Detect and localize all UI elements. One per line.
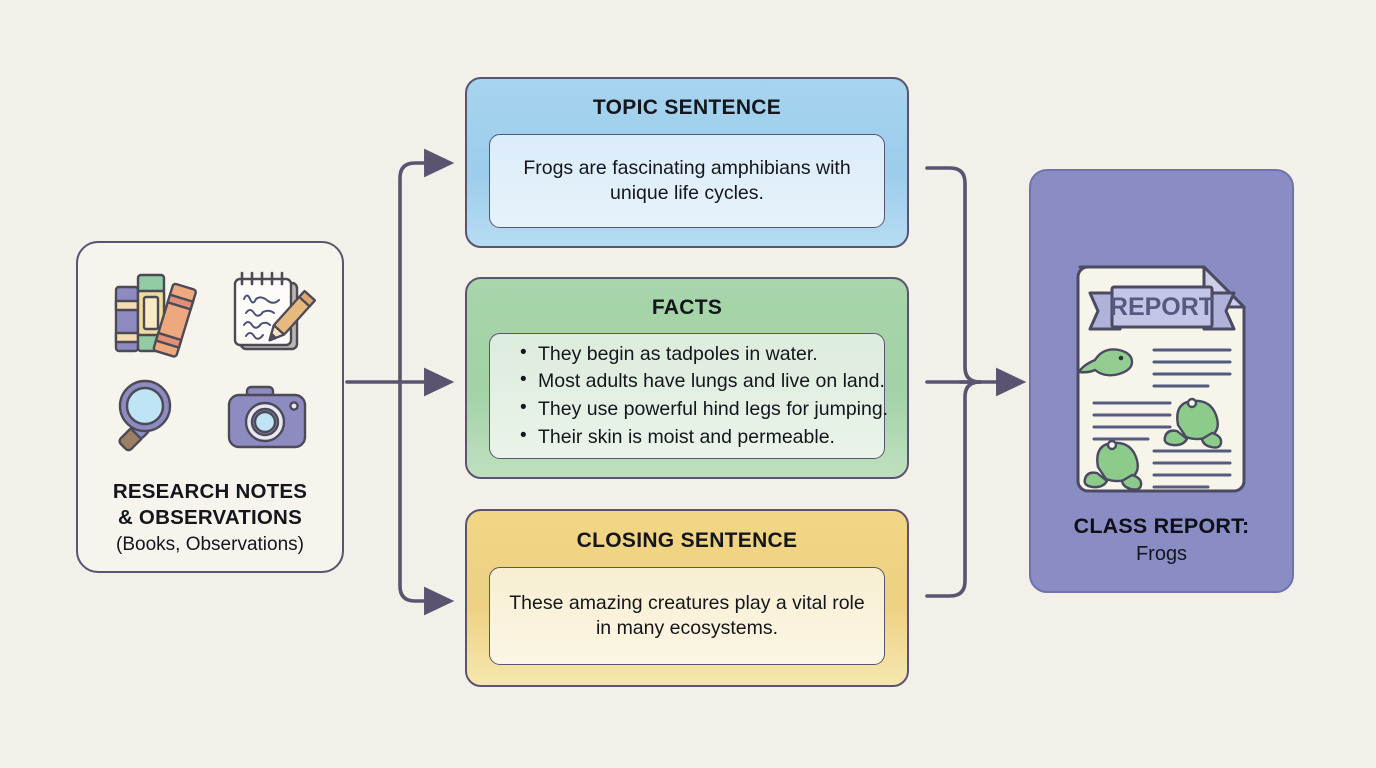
research-notes-node[interactable]: RESEARCH NOTES & OBSERVATIONS (Books, Ob…	[76, 241, 344, 573]
wire-topic-merge	[927, 168, 980, 382]
books-icon	[102, 263, 206, 364]
camera-icon	[215, 367, 319, 468]
class-report-title: CLASS REPORT:	[1031, 513, 1292, 540]
fact-item: Most adults have lungs and live on land.	[520, 368, 888, 396]
topic-sentence-text: Frogs are fascinating amphibians with un…	[490, 156, 884, 206]
closing-sentence-card: These amazing creatures play a vital rol…	[489, 567, 885, 665]
report-ribbon-label: REPORT	[1109, 293, 1213, 321]
research-icon-grid	[97, 261, 323, 469]
facts-list: They begin as tadpoles in water. Most ad…	[490, 341, 888, 452]
notepad-pencil-icon	[215, 263, 319, 364]
diagram-canvas: RESEARCH NOTES & OBSERVATIONS (Books, Ob…	[0, 0, 1376, 768]
class-report-caption: CLASS REPORT: Frogs	[1031, 513, 1292, 567]
closing-sentence-box[interactable]: CLOSING SENTENCE These amazing creatures…	[465, 509, 909, 687]
research-notes-caption: RESEARCH NOTES & OBSERVATIONS (Books, Ob…	[78, 479, 342, 557]
report-document-icon: REPORT	[1072, 255, 1252, 502]
topic-sentence-card: Frogs are fascinating amphibians with un…	[489, 134, 885, 228]
class-report-subtitle: Frogs	[1031, 542, 1292, 567]
facts-card: They begin as tadpoles in water. Most ad…	[489, 333, 885, 459]
fact-item: They begin as tadpoles in water.	[520, 341, 888, 369]
magnifying-glass-icon	[102, 367, 206, 468]
facts-title: FACTS	[467, 279, 907, 320]
fact-item: They use powerful hind legs for jumping.	[520, 396, 888, 424]
closing-sentence-title: CLOSING SENTENCE	[467, 511, 907, 553]
topic-sentence-box[interactable]: TOPIC SENTENCE Frogs are fascinating amp…	[465, 77, 909, 248]
wire-closing-merge	[927, 382, 980, 596]
class-report-node[interactable]: REPORT	[1029, 169, 1294, 593]
source-subtitle: (Books, Observations)	[78, 533, 342, 557]
facts-box[interactable]: FACTS They begin as tadpoles in water. M…	[465, 277, 909, 479]
wire-to-closing	[400, 382, 428, 601]
closing-sentence-text: These amazing creatures play a vital rol…	[490, 591, 884, 641]
source-title-line1: RESEARCH NOTES	[78, 479, 342, 505]
topic-sentence-title: TOPIC SENTENCE	[467, 79, 907, 120]
fact-item: Their skin is moist and permeable.	[520, 424, 888, 452]
source-title-line2: & OBSERVATIONS	[78, 505, 342, 531]
wire-to-topic	[400, 163, 428, 382]
